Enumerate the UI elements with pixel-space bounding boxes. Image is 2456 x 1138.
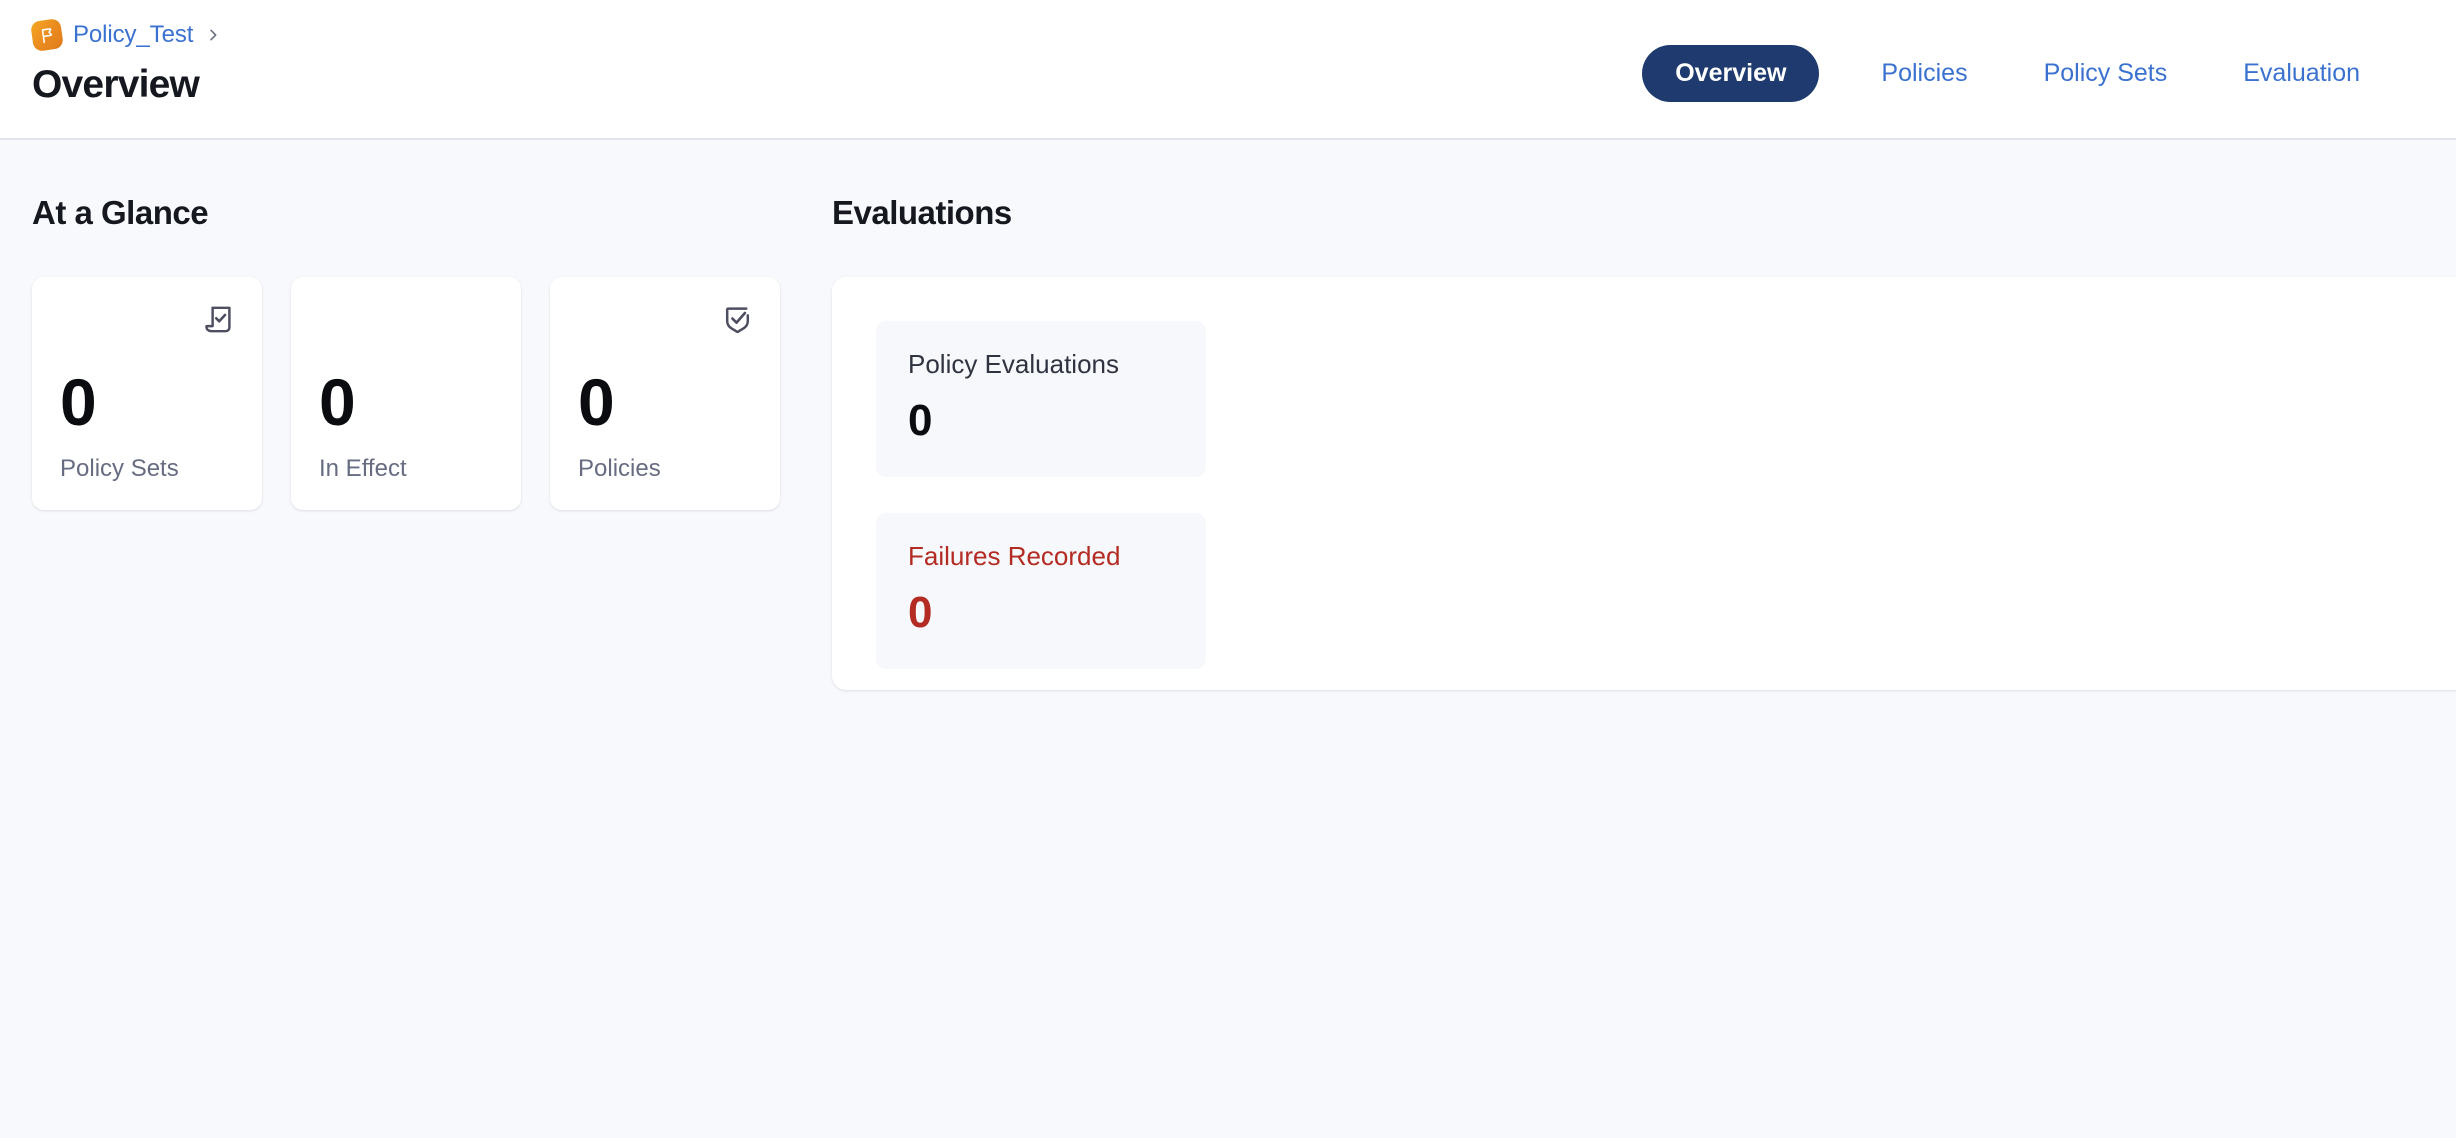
tab-overview[interactable]: Overview bbox=[1642, 45, 1819, 102]
at-a-glance-section: At a Glance 0 Policy Sets 0 In Effect bbox=[32, 196, 822, 510]
tab-policy-sets[interactable]: Policy Sets bbox=[2006, 61, 2206, 86]
app-header: Policy_Test Overview Overview Policies P… bbox=[0, 0, 2456, 140]
chevron-right-icon bbox=[205, 27, 221, 43]
evaluation-card-label: Policy Evaluations bbox=[908, 351, 1174, 377]
tab-evaluation[interactable]: Evaluation bbox=[2205, 61, 2398, 86]
evaluation-card-label: Failures Recorded bbox=[908, 543, 1174, 569]
evaluation-card-policy-evaluations[interactable]: Policy Evaluations 0 bbox=[876, 321, 1206, 477]
stat-cards-row: 0 Policy Sets 0 In Effect 0 Policies bbox=[32, 277, 822, 510]
flag-logo-icon bbox=[30, 18, 64, 52]
stat-card-policies[interactable]: 0 Policies bbox=[550, 277, 780, 510]
stat-value: 0 bbox=[319, 369, 493, 435]
stat-label: Policies bbox=[578, 457, 752, 481]
stat-card-policy-sets[interactable]: 0 Policy Sets bbox=[32, 277, 262, 510]
evaluation-card-value: 0 bbox=[908, 399, 1174, 443]
tab-policies[interactable]: Policies bbox=[1843, 61, 2005, 86]
shield-check-icon bbox=[721, 303, 754, 336]
stat-card-in-effect[interactable]: 0 In Effect bbox=[291, 277, 521, 510]
evaluation-card-failures-recorded[interactable]: Failures Recorded 0 bbox=[876, 513, 1206, 669]
stat-value: 0 bbox=[60, 369, 234, 435]
stat-label: Policy Sets bbox=[60, 457, 234, 481]
evaluations-title: Evaluations bbox=[832, 196, 2456, 229]
breadcrumb-workspace-link[interactable]: Policy_Test bbox=[73, 23, 193, 47]
primary-nav: Overview Policies Policy Sets Evaluation bbox=[1642, 45, 2398, 102]
at-a-glance-title: At a Glance bbox=[32, 196, 822, 229]
evaluations-panel: Policy Evaluations 0 Failures Recorded 0 bbox=[832, 277, 2456, 690]
stat-value: 0 bbox=[578, 369, 752, 435]
document-check-icon bbox=[203, 303, 236, 336]
evaluations-section: Evaluations Policy Evaluations 0 Failure… bbox=[832, 196, 2456, 690]
stat-label: In Effect bbox=[319, 457, 493, 481]
evaluation-card-value: 0 bbox=[908, 591, 1174, 635]
